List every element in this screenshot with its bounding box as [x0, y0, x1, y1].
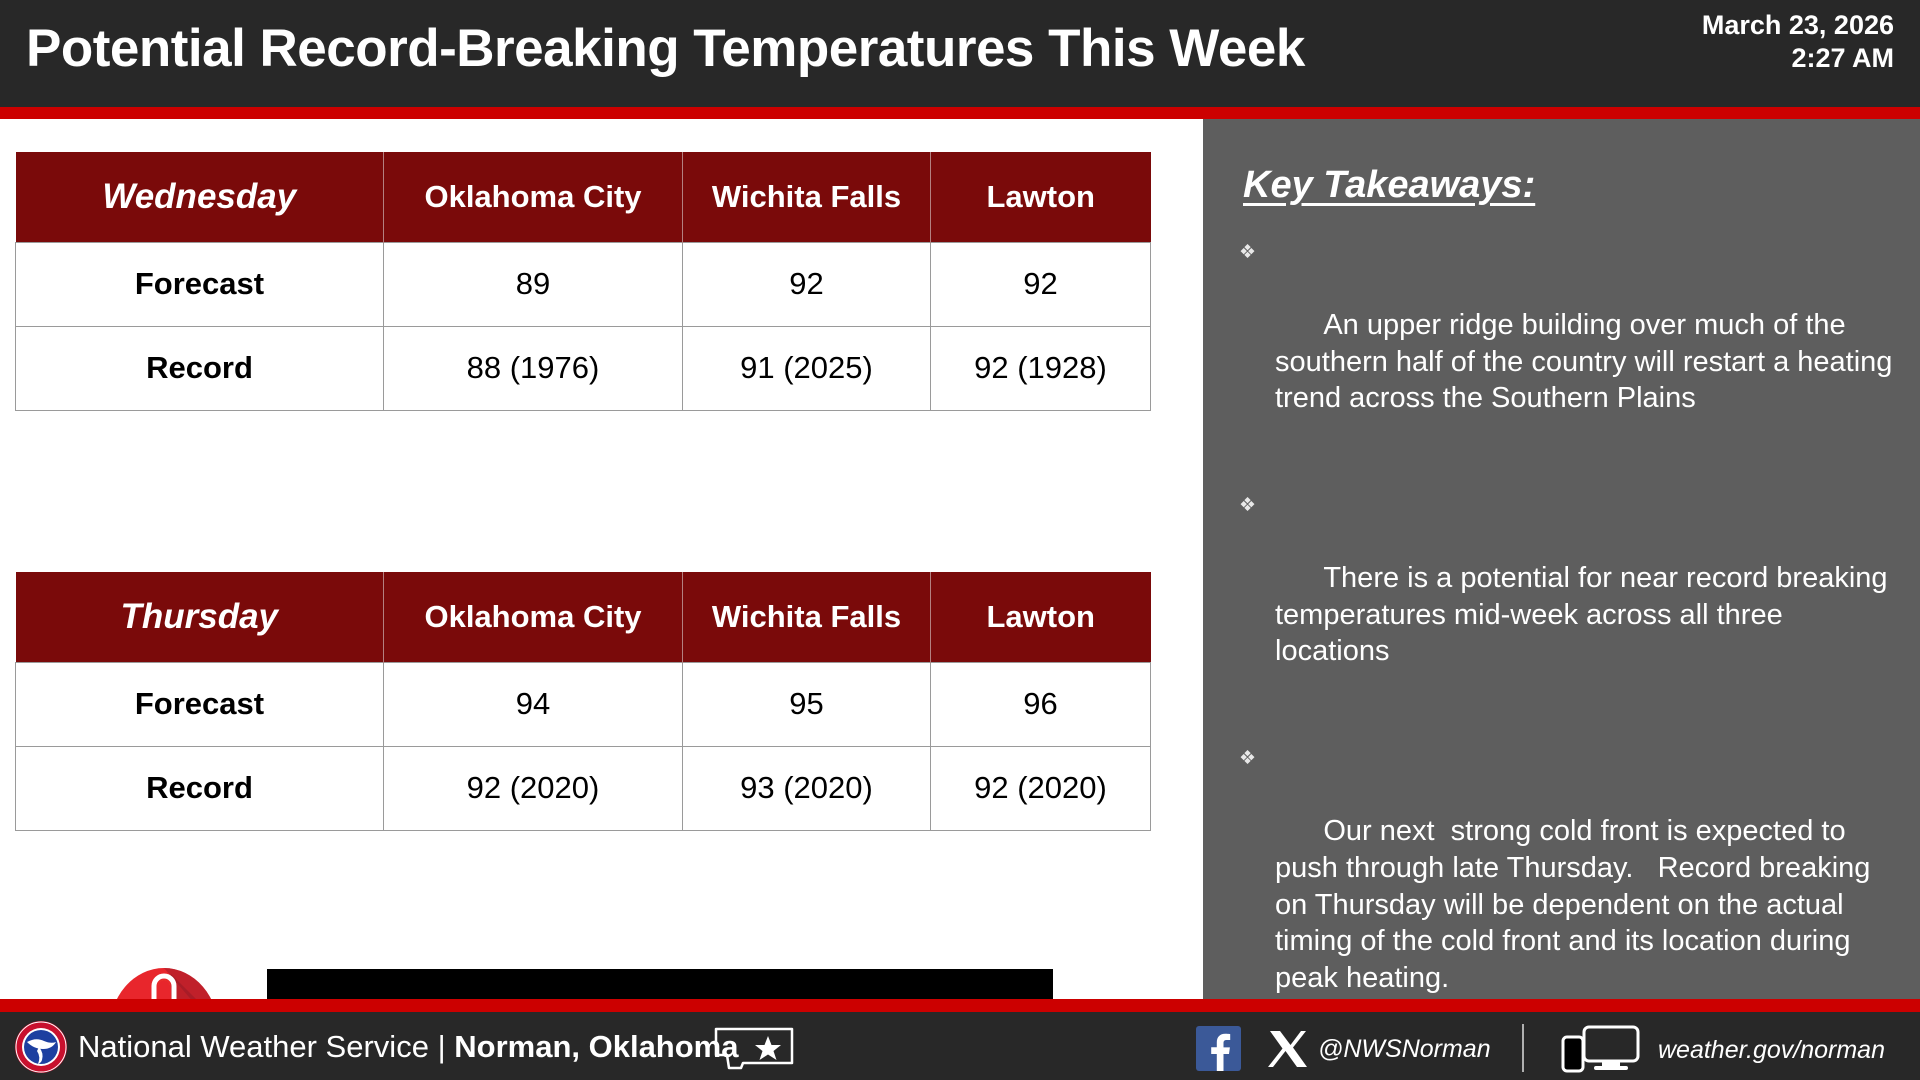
row-label-forecast: Forecast — [16, 242, 384, 326]
footer-office-name: Norman, Oklahoma — [454, 1029, 738, 1064]
cell-forecast-lawton: 92 — [931, 242, 1151, 326]
column-header-oklahoma-city: Oklahoma City — [384, 572, 683, 662]
column-header-wichita-falls: Wichita Falls — [683, 152, 931, 242]
column-header-oklahoma-city: Oklahoma City — [384, 152, 683, 242]
list-item: ❖ An upper ridge building over much of t… — [1231, 234, 1896, 453]
footer-separator: | — [438, 1029, 446, 1064]
column-header-lawton: Lawton — [931, 152, 1151, 242]
column-header-lawton: Lawton — [931, 572, 1151, 662]
cell-forecast-okc: 94 — [384, 662, 683, 746]
page-footer: National Weather Service | Norman, Oklah… — [0, 1012, 1920, 1080]
diamond-bullet-icon: ❖ — [1239, 494, 1256, 518]
cell-forecast-wf: 95 — [683, 662, 931, 746]
cell-record-wf: 91 (2025) — [683, 326, 931, 410]
footer-website[interactable]: weather.gov/norman — [1658, 1036, 1885, 1065]
header-date: March 23, 2026 — [1702, 9, 1894, 42]
key-takeaways-title: Key Takeaways: — [1243, 164, 1535, 207]
cell-record-lawton: 92 (1928) — [931, 326, 1151, 410]
table-row: Record 88 (1976) 91 (2025) 92 (1928) — [16, 326, 1151, 410]
list-item: ❖ There is a potential for near record b… — [1231, 487, 1896, 706]
table-day-label: Thursday — [16, 572, 384, 662]
key-takeaways-list: ❖ An upper ridge building over much of t… — [1231, 234, 1896, 1067]
key-takeaways-panel: Key Takeaways: ❖ An upper ridge building… — [1203, 119, 1920, 999]
oklahoma-outline-icon — [713, 1025, 795, 1071]
list-item: ❖ Our next strong cold front is expected… — [1231, 740, 1896, 1032]
column-header-wichita-falls: Wichita Falls — [683, 572, 931, 662]
cell-record-wf: 93 (2020) — [683, 746, 931, 830]
cell-record-okc: 88 (1976) — [384, 326, 683, 410]
cell-record-okc: 92 (2020) — [384, 746, 683, 830]
row-label-record: Record — [16, 326, 384, 410]
takeaway-text: There is a potential for near record bre… — [1275, 562, 1896, 667]
row-label-forecast: Forecast — [16, 662, 384, 746]
devices-icon — [1560, 1025, 1642, 1073]
footer-red-stripe — [0, 999, 1920, 1012]
table-header-row: Wednesday Oklahoma City Wichita Falls La… — [16, 152, 1151, 242]
diamond-bullet-icon: ❖ — [1239, 241, 1256, 265]
cell-forecast-okc: 89 — [384, 242, 683, 326]
cell-record-lawton: 92 (2020) — [931, 746, 1151, 830]
nws-seal-icon — [14, 1020, 68, 1074]
table-header-row: Thursday Oklahoma City Wichita Falls Law… — [16, 572, 1151, 662]
left-content-panel: Wednesday Oklahoma City Wichita Falls La… — [0, 119, 1203, 999]
header-red-stripe — [0, 107, 1920, 119]
table-row: Record 92 (2020) 93 (2020) 92 (2020) — [16, 746, 1151, 830]
takeaway-text: An upper ridge building over much of the… — [1275, 309, 1900, 414]
table-row: Forecast 94 95 96 — [16, 662, 1151, 746]
cell-forecast-lawton: 96 — [931, 662, 1151, 746]
table-day-label: Wednesday — [16, 152, 384, 242]
page-header: Potential Record-Breaking Temperatures T… — [0, 0, 1920, 107]
cell-forecast-wf: 92 — [683, 242, 931, 326]
header-time: 2:27 AM — [1702, 42, 1894, 75]
forecast-table-thursday: Thursday Oklahoma City Wichita Falls Law… — [15, 572, 1151, 831]
diamond-bullet-icon: ❖ — [1239, 747, 1256, 771]
social-handle[interactable]: @NWSNorman — [1318, 1035, 1491, 1064]
facebook-icon[interactable] — [1196, 1026, 1241, 1071]
footer-divider — [1522, 1024, 1524, 1072]
header-datetime: March 23, 2026 2:27 AM — [1702, 9, 1894, 75]
table-row: Forecast 89 92 92 — [16, 242, 1151, 326]
forecast-table-wednesday: Wednesday Oklahoma City Wichita Falls La… — [15, 152, 1151, 411]
row-label-record: Record — [16, 746, 384, 830]
footer-agency: National Weather Service — [78, 1029, 429, 1064]
page-title: Potential Record-Breaking Temperatures T… — [26, 18, 1305, 79]
footer-office-line: National Weather Service | Norman, Oklah… — [78, 1029, 739, 1065]
x-twitter-icon[interactable] — [1268, 1029, 1308, 1069]
takeaway-text: Our next strong cold front is expected t… — [1275, 815, 1878, 993]
